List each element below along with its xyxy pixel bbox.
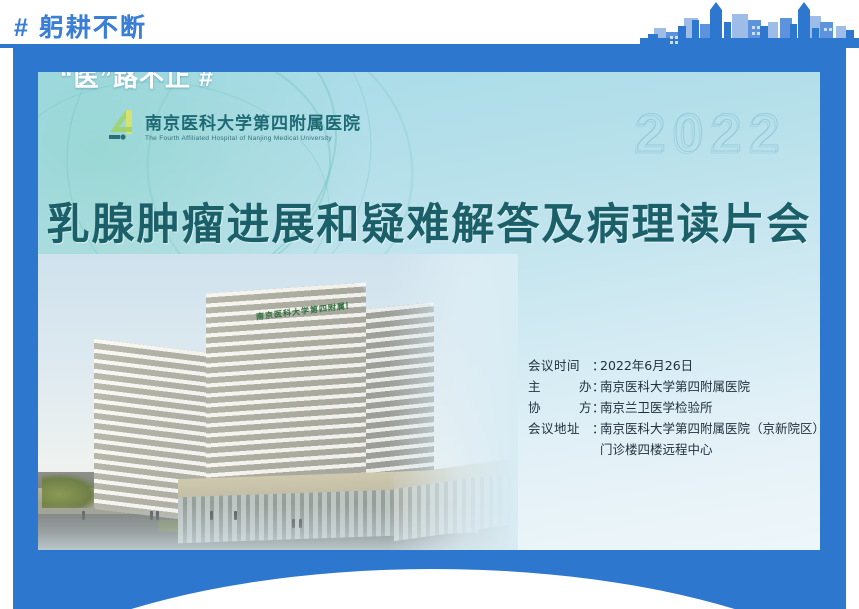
info-colon: ： [592, 355, 600, 376]
year-watermark-shadow: 2022 [634, 104, 786, 166]
info-row-address-continued: 门诊楼四楼远程中心 [528, 439, 820, 460]
slide-main-title: 乳腺肿瘤进展和疑难解答及病理读片会 [38, 190, 820, 252]
info-value: 门诊楼四楼远程中心 [600, 439, 713, 460]
info-row-time: 会议时间 ： 2022年6月26日 [528, 355, 820, 376]
presentation-slide: 2022 2022 南京医科大学第四附属医院 The Fourth Affili… [38, 72, 820, 550]
info-row-organizer: 主 办 ： 南京医科大学第四附属医院 [528, 376, 820, 397]
info-label: 主 办 [528, 376, 592, 397]
info-label-char-b: 方 [579, 397, 592, 418]
info-colon: ： [592, 418, 600, 439]
info-label: 会议地址 [528, 418, 592, 439]
hospital-logo-en-name: The Fourth Affiliated Hospital of Nanjin… [145, 136, 361, 143]
info-colon: ： [592, 376, 600, 397]
info-value: 南京医科大学第四附属医院 [600, 376, 750, 397]
photo-trees [42, 474, 100, 508]
info-label: 会议时间 [528, 355, 592, 376]
city-skyline-icon [640, 0, 859, 48]
number-four-logo-mark-icon [106, 108, 140, 142]
info-value: 2022年6月26日 [600, 355, 693, 376]
top-header-bar: # 躬耕不断 [0, 0, 859, 48]
header-hashtag-title: # 躬耕不断 [14, 8, 147, 44]
info-label-char-a: 协 [528, 397, 541, 418]
hospital-logo-cn-name: 南京医科大学第四附属医院 [145, 116, 361, 133]
info-label-char-a: 主 [528, 376, 541, 397]
info-value: 南京兰卫医学检验所 [600, 397, 713, 418]
info-label-char-b: 办 [579, 376, 592, 397]
hospital-logo: 南京医科大学第四附属医院 The Fourth Affiliated Hospi… [106, 108, 361, 142]
info-row-coorganizer: 协 方 ： 南京兰卫医学检验所 [528, 397, 820, 418]
info-value: 南京医科大学第四附属医院（京新院区） [600, 418, 820, 439]
slide-sub-hashtag-title: “医”路不止 # [60, 72, 214, 94]
meeting-info-block: 会议时间 ： 2022年6月26日 主 办 ： 南京医科大学第四附属医院 协 方… [528, 355, 820, 460]
photo-bottom-fade [38, 504, 518, 550]
info-label: 协 方 [528, 397, 592, 418]
info-colon: ： [592, 397, 600, 418]
info-row-address: 会议地址 ： 南京医科大学第四附属医院（京新院区） [528, 418, 820, 439]
bottom-blue-band [13, 555, 846, 609]
bottom-white-arc [13, 569, 846, 609]
hospital-building-photo: 南京医科大学第四附属医院 [38, 254, 518, 550]
